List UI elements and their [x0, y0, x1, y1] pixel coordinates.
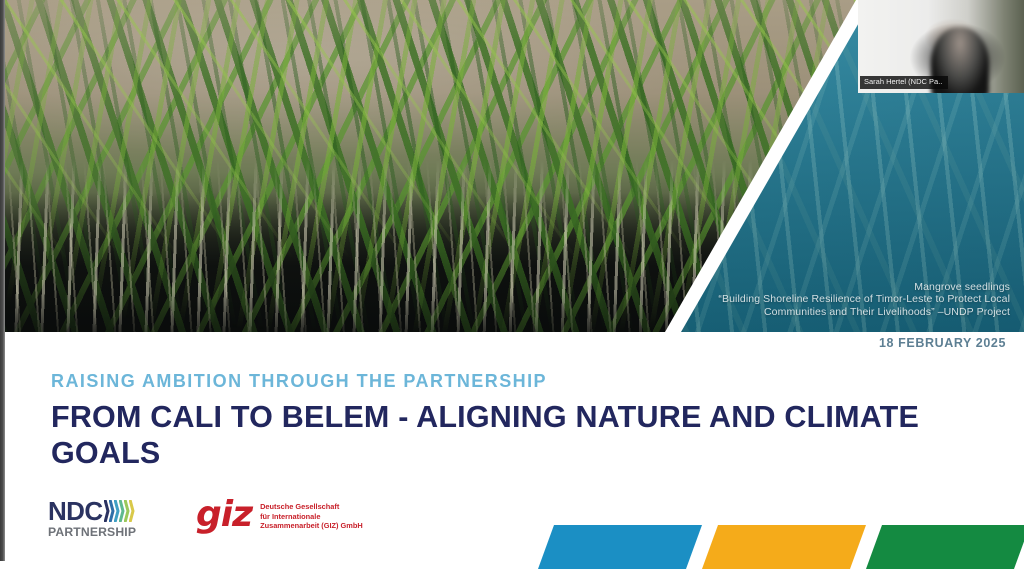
giz-claim-line-2: für Internationale	[260, 512, 320, 521]
video-participant-tile[interactable]: Sarah Hertel (NDC Pa..	[858, 0, 1024, 93]
brand-bar-orange	[702, 525, 866, 569]
window-bottom-border	[0, 569, 1024, 573]
giz-logo: giz Deutsche Gesellschaft für Internatio…	[196, 498, 363, 532]
slide-kicker: RAISING AMBITION THROUGH THE PARTNERSHIP	[51, 370, 991, 392]
giz-logo-claim: Deutsche Gesellschaft für Internationale…	[260, 502, 363, 531]
ndc-partnership-logo: NDC PARTNERSHIP	[48, 498, 164, 539]
ndc-logo-top: NDC	[48, 498, 164, 524]
logo-row: NDC PARTNERSHIP giz Deutsche Gesellschaf…	[48, 498, 363, 539]
giz-logo-wordmark: giz	[196, 498, 252, 532]
brand-bar-blue	[538, 525, 702, 569]
window-left-border	[0, 0, 5, 561]
ndc-logo-wordmark: NDC	[48, 498, 103, 524]
brand-bar-green	[866, 525, 1024, 569]
slide-date: 18 FEBRUARY 2025	[879, 336, 1006, 350]
giz-claim-line-3: Zusammenarbeit (GIZ) GmbH	[260, 521, 363, 530]
participant-name-label: Sarah Hertel (NDC Pa..	[860, 76, 948, 89]
presentation-slide: Mangrove seedlings “Building Shoreline R…	[0, 0, 1024, 573]
ndc-chevron-icon	[105, 500, 135, 522]
brand-color-bars	[546, 525, 1024, 569]
giz-claim-line-1: Deutsche Gesellschaft	[260, 502, 339, 511]
title-block: RAISING AMBITION THROUGH THE PARTNERSHIP…	[51, 370, 991, 471]
slide-headline: FROM CALI TO BELEM - ALIGNING NATURE AND…	[51, 399, 961, 471]
ndc-logo-subtitle: PARTNERSHIP	[48, 525, 164, 539]
photo-caption-credit: Mangrove seedlings	[680, 281, 1010, 294]
photo-caption: Mangrove seedlings “Building Shoreline R…	[680, 281, 1010, 319]
hero-photo-band: Mangrove seedlings “Building Shoreline R…	[0, 0, 1024, 332]
photo-caption-title: “Building Shoreline Resilience of Timor-…	[680, 293, 1010, 318]
